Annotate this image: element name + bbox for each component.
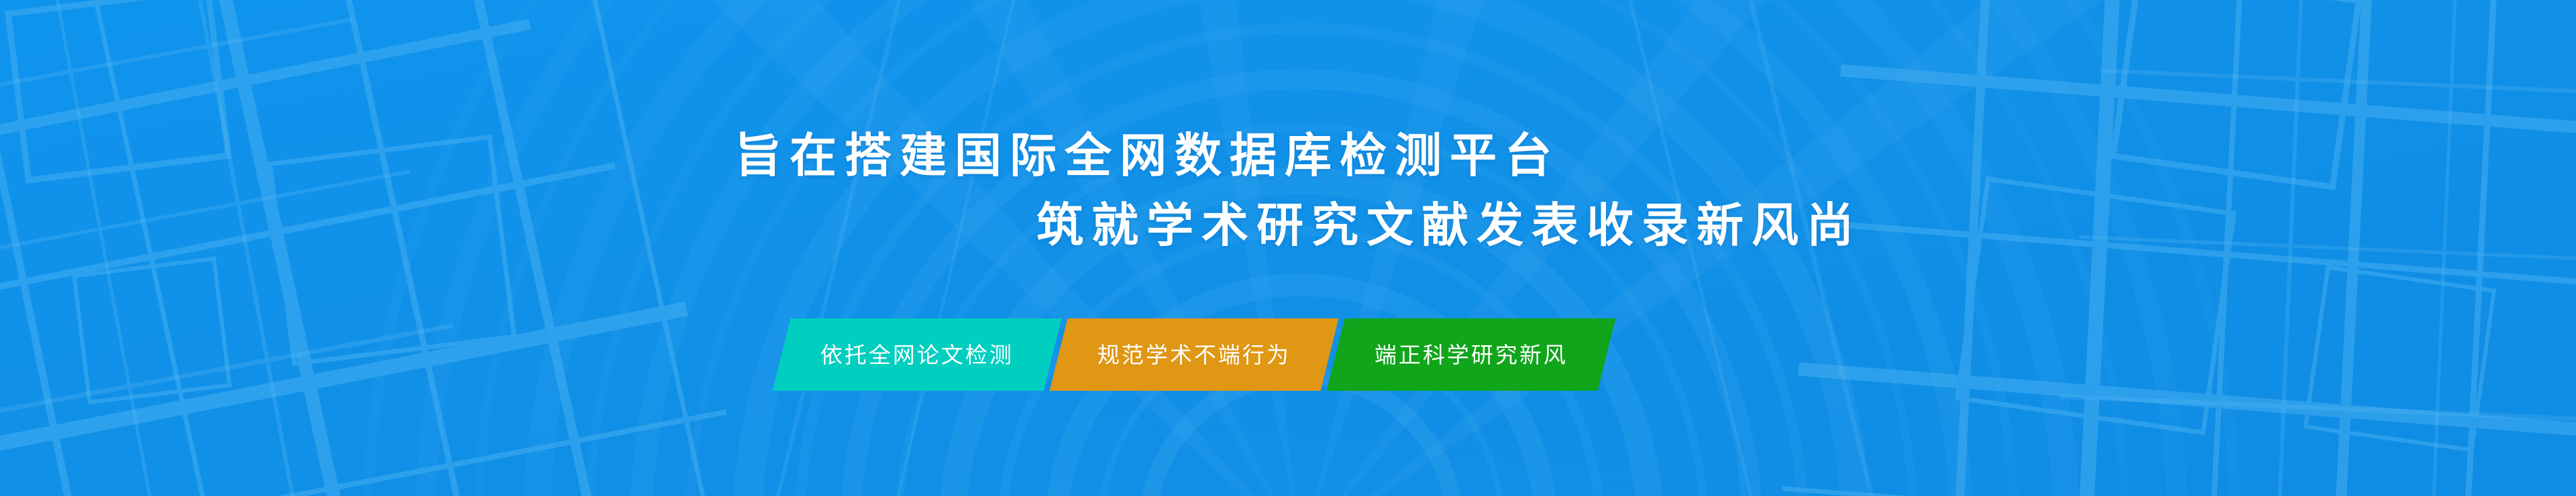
feature-tag-1-label: 依托全网论文检测 xyxy=(820,344,1014,366)
feature-tag-3-label: 端正科学研究新风 xyxy=(1375,344,1568,366)
headline-block: 旨在搭建国际全网数据库检测平台 筑就学术研究文献发表收录新风尚 xyxy=(0,121,2576,260)
feature-tag-2[interactable]: 规范学术不端行为 xyxy=(1050,318,1339,391)
headline-line-1: 旨在搭建国际全网数据库检测平台 xyxy=(0,121,2576,190)
promo-banner: 旨在搭建国际全网数据库检测平台 筑就学术研究文献发表收录新风尚 依托全网论文检测… xyxy=(0,0,2576,496)
feature-tag-1[interactable]: 依托全网论文检测 xyxy=(773,318,1062,391)
feature-tag-bar: 依托全网论文检测 规范学术不端行为 端正科学研究新风 xyxy=(782,318,1607,391)
feature-tag-3[interactable]: 端正科学研究新风 xyxy=(1327,318,1616,391)
headline-line-2: 筑就学术研究文献发表收录新风尚 xyxy=(322,190,2576,260)
feature-tag-2-label: 规范学术不端行为 xyxy=(1097,344,1291,366)
